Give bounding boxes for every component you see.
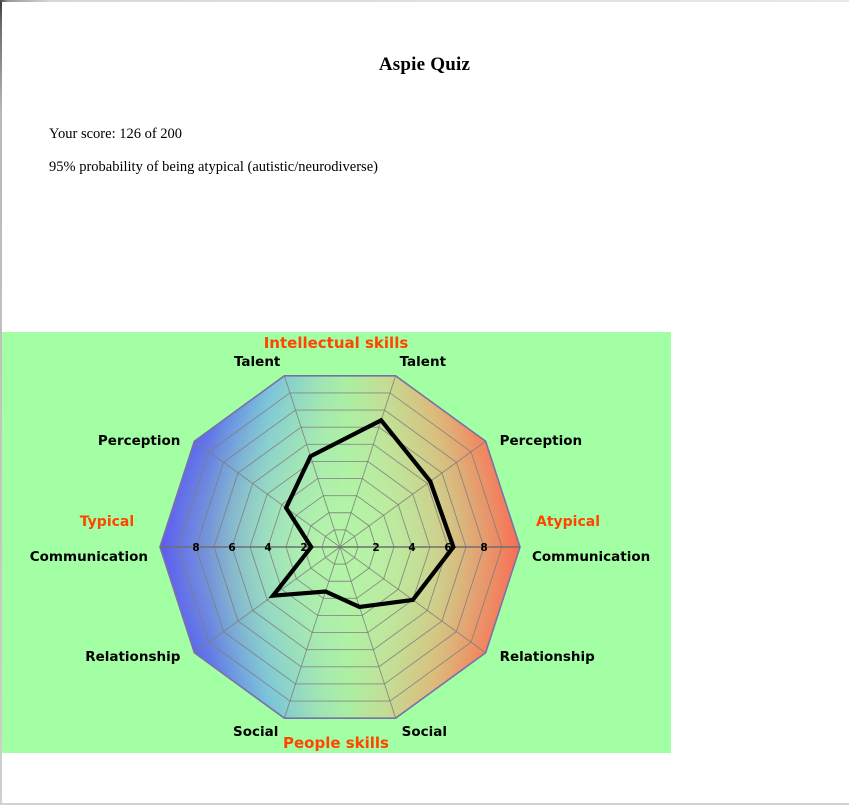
axis-label-atypical-perception: Perception — [500, 433, 582, 449]
axis-label-typical-communication: Communication — [30, 549, 148, 565]
axis-label-typical-social: Social — [233, 724, 278, 740]
aspie-radar-chart: 86422468 TalentPerceptionCommunicationRe… — [2, 332, 671, 753]
tick-label-left-2: 2 — [300, 542, 307, 554]
group-label-top: Intellectual skills — [264, 334, 409, 352]
tick-label-left-8: 8 — [192, 542, 199, 554]
group-label-right: Atypical — [536, 514, 600, 530]
tick-label-right-8: 8 — [480, 542, 487, 554]
tick-label-right-4: 4 — [408, 542, 415, 554]
tick-label-right-6: 6 — [444, 542, 451, 554]
page-title: Aspie Quiz — [2, 54, 847, 76]
probability-text: 95% probability of being atypical (autis… — [49, 159, 378, 176]
document-body: Aspie Quiz Your score: 126 of 200 95% pr… — [2, 2, 847, 802]
axis-label-typical-talent: Talent — [234, 354, 281, 370]
group-label-bottom: People skills — [283, 734, 389, 752]
axis-label-atypical-social: Social — [402, 724, 447, 740]
axis-label-typical-relationship: Relationship — [85, 649, 181, 665]
axis-label-atypical-relationship: Relationship — [500, 649, 596, 665]
radar-grid — [160, 376, 520, 718]
tick-label-left-4: 4 — [264, 542, 271, 554]
tick-label-right-2: 2 — [372, 542, 379, 554]
axis-label-atypical-communication: Communication — [532, 549, 650, 565]
group-label-left: Typical — [80, 514, 134, 530]
tick-label-left-6: 6 — [228, 542, 235, 554]
radar-svg: 86422468 TalentPerceptionCommunicationRe… — [2, 332, 671, 753]
axis-label-typical-perception: Perception — [98, 433, 181, 449]
axis-label-atypical-talent: Talent — [400, 354, 447, 370]
score-text: Your score: 126 of 200 — [49, 126, 182, 143]
